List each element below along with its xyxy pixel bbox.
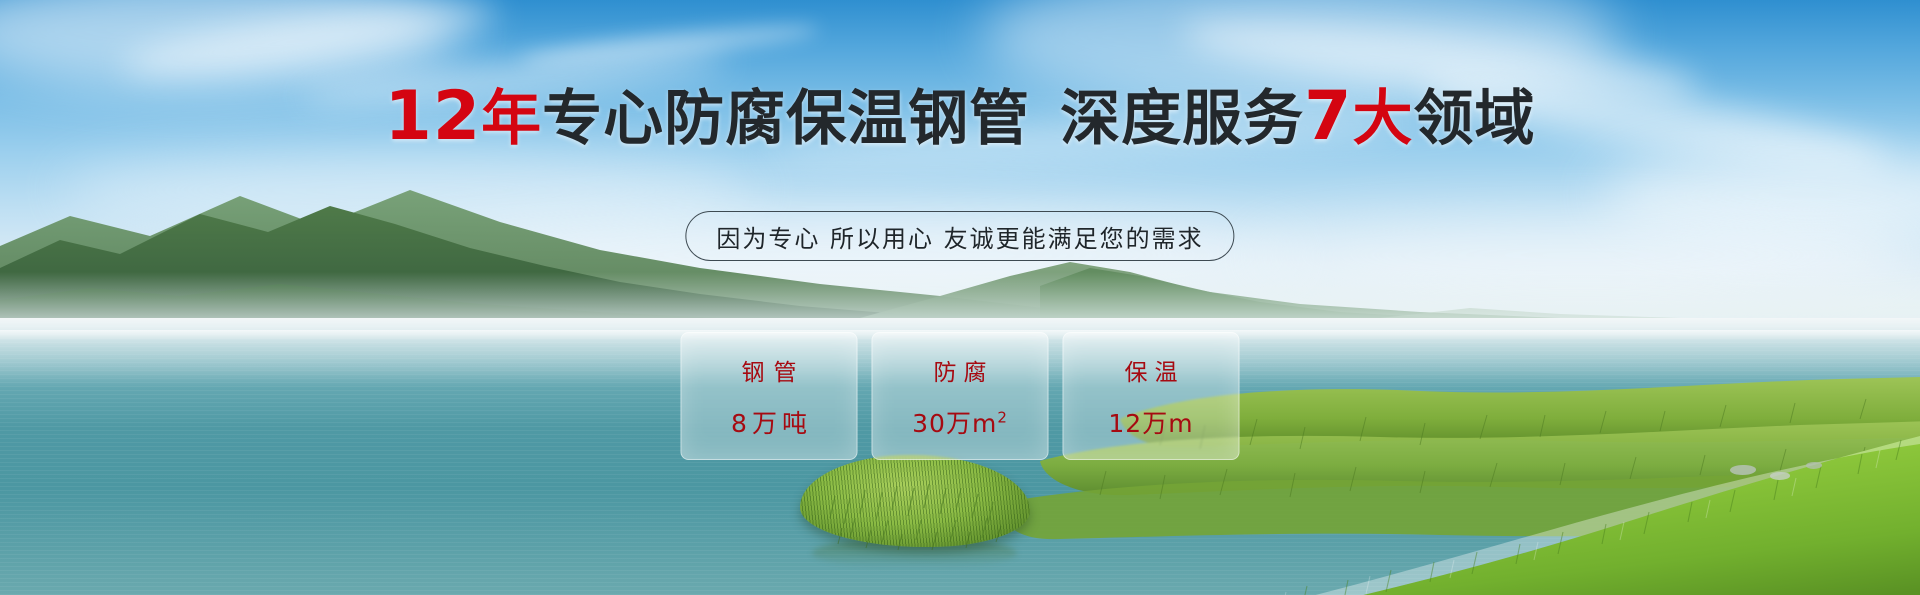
headline-fields-number: 7 [1304,77,1352,156]
stat-card-title: 防腐 [927,353,994,387]
page-title: 12年专心防腐保温钢管深度服务7大领域 [0,84,1920,152]
headline-fields-text: 领域 [1413,84,1535,154]
stat-card-value-text: 30万m [912,409,997,438]
headline-fields-unit: 大 [1352,84,1413,154]
headline-main-text: 专心防腐保温钢管 [542,84,1030,154]
stat-card-title: 钢管 [733,353,806,387]
subtitle-pill: 因为专心 所以用心 友诚更能满足您的需求 [685,211,1234,261]
subtitle-text: 因为专心 所以用心 友诚更能满足您的需求 [716,219,1203,254]
stat-card-insulation[interactable]: 保温 12万m [1063,332,1240,460]
stat-card-value: 30万m2 [912,404,1008,440]
headline-service-text: 深度服务 [1060,84,1304,154]
islet-blades-icon [790,448,1050,568]
mountain-range [0,0,1920,360]
stat-card-anticorrosion[interactable]: 防腐 30万m2 [872,332,1049,460]
stat-card-value-superscript: 2 [997,408,1008,426]
headline-years-number: 12 [385,77,482,156]
stat-card-steel-pipe[interactable]: 钢管 8万吨 [681,332,858,460]
stat-card-value: 8万吨 [726,404,812,440]
hero-banner: 12年专心防腐保温钢管深度服务7大领域 因为专心 所以用心 友诚更能满足您的需求… [0,0,1920,595]
stat-card-value: 12万m [1108,404,1193,440]
headline-years-unit: 年 [481,84,542,154]
stat-card-title: 保温 [1118,353,1185,387]
stat-card-group: 钢管 8万吨 防腐 30万m2 保温 12万m [681,332,1240,460]
